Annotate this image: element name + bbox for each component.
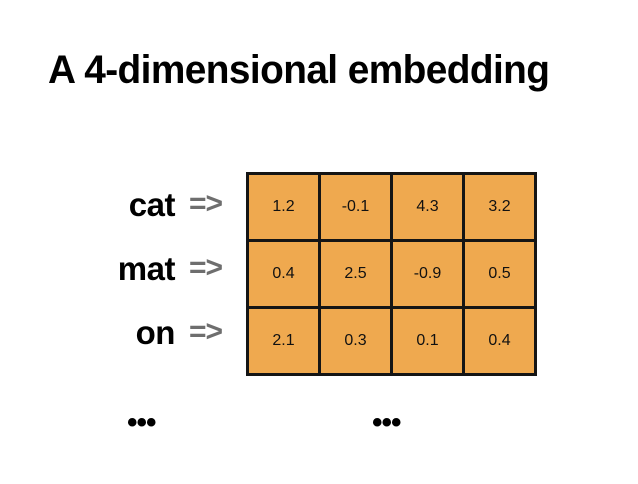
- list-item: on =>: [40, 300, 240, 364]
- slide-canvas: A 4-dimensional embedding cat => mat => …: [0, 0, 638, 484]
- embedding-matrix: 1.2 -0.1 4.3 3.2 0.4 2.5 -0.9 0.5 2.1 0.…: [246, 172, 537, 376]
- matrix-cell: -0.9: [392, 241, 464, 308]
- matrix-cell: 2.5: [320, 241, 392, 308]
- matrix-cell: 4.3: [392, 174, 464, 241]
- matrix-cell: 0.1: [392, 308, 464, 375]
- matrix-cell: 0.3: [320, 308, 392, 375]
- maps-to-arrow-icon: =>: [189, 253, 222, 283]
- word-label-mat: mat: [118, 252, 175, 285]
- word-label-cat: cat: [129, 188, 175, 221]
- list-item: cat =>: [40, 172, 240, 236]
- list-item: mat =>: [40, 236, 240, 300]
- table-row: 1.2 -0.1 4.3 3.2: [248, 174, 536, 241]
- matrix-cell: 0.4: [464, 308, 536, 375]
- table-row: 0.4 2.5 -0.9 0.5: [248, 241, 536, 308]
- matrix-cell: 0.5: [464, 241, 536, 308]
- maps-to-arrow-icon: =>: [189, 317, 222, 347]
- matrix-cell: 3.2: [464, 174, 536, 241]
- maps-to-arrow-icon: =>: [189, 189, 222, 219]
- table-row: 2.1 0.3 0.1 0.4: [248, 308, 536, 375]
- matrix-cell: -0.1: [320, 174, 392, 241]
- matrix-cell: 0.4: [248, 241, 320, 308]
- ellipsis-words: •••: [127, 408, 156, 438]
- matrix-cell: 2.1: [248, 308, 320, 375]
- page-title: A 4-dimensional embedding: [48, 46, 591, 94]
- ellipsis-matrix: •••: [372, 408, 401, 438]
- word-label-list: cat => mat => on =>: [40, 172, 240, 364]
- word-label-on: on: [136, 316, 175, 349]
- matrix-cell: 1.2: [248, 174, 320, 241]
